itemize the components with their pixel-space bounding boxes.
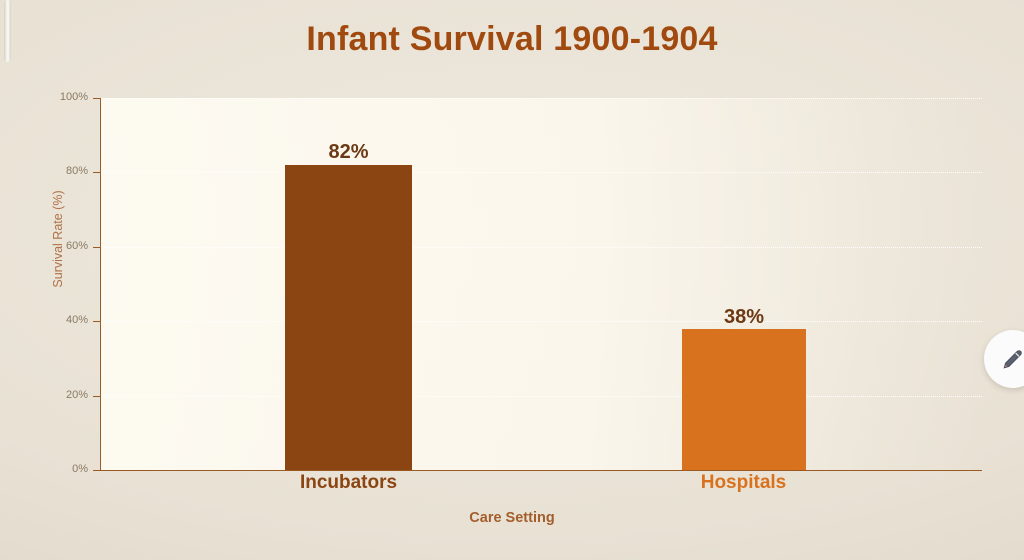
bars-layer: [100, 98, 982, 470]
category-label-incubators: Incubators: [265, 472, 432, 494]
y-tick-label-60: 60%: [42, 240, 88, 252]
bar-value-incubators: 82%: [285, 141, 412, 164]
chart-title: Infant Survival 1900-1904: [0, 20, 1024, 59]
y-tick-80: [93, 172, 100, 173]
y-tick-label-100: 100%: [42, 91, 88, 103]
category-label-hospitals: Hospitals: [660, 472, 827, 494]
y-tick-label-20: 20%: [42, 389, 88, 401]
y-tick-40: [93, 321, 100, 322]
bar-incubators[interactable]: [285, 165, 412, 470]
bar-hospitals[interactable]: [682, 329, 806, 470]
y-tick-label-80: 80%: [42, 165, 88, 177]
vertical-scrollbar[interactable]: [4, 0, 11, 62]
y-tick-100: [93, 98, 100, 99]
chart-container: Infant Survival 1900-1904 100% 80% 60% 4…: [0, 0, 1024, 560]
y-tick-label-40: 40%: [42, 314, 88, 326]
pencil-icon: [1000, 346, 1024, 372]
x-axis-title: Care Setting: [0, 510, 1024, 526]
x-axis-line: [100, 470, 982, 471]
y-tick-label-0: 0%: [42, 463, 88, 475]
y-axis-title: Survival Rate (%): [51, 169, 65, 309]
bar-value-hospitals: 38%: [682, 306, 806, 329]
y-tick-60: [93, 247, 100, 248]
y-tick-0: [93, 470, 100, 471]
y-tick-20: [93, 396, 100, 397]
